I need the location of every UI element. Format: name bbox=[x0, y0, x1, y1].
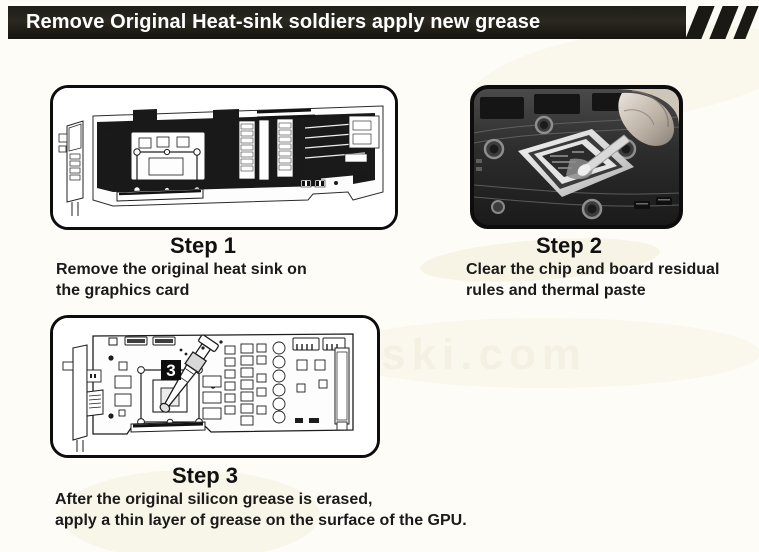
step-3-image-panel: 3 bbox=[50, 315, 380, 458]
step-3-line-2: apply a thin layer of grease on the surf… bbox=[55, 510, 467, 531]
title-decor-slash-icon bbox=[733, 6, 758, 39]
graphics-card-heatsink-illustration bbox=[53, 88, 398, 230]
step-1-description: Remove the original heat sink on the gra… bbox=[56, 259, 307, 301]
step-3-line-1: After the original silicon grease is era… bbox=[55, 489, 467, 510]
gpu-cleaning-photo bbox=[474, 89, 679, 225]
step-3-badge-number: 3 bbox=[166, 361, 175, 380]
step-1-line-1: Remove the original heat sink on bbox=[56, 259, 307, 280]
step-1-heading: Step 1 bbox=[170, 233, 236, 259]
bare-pcb-grease-illustration: 3 bbox=[53, 318, 377, 455]
step-3-heading: Step 3 bbox=[172, 463, 238, 489]
page-title-bar: Remove Original Heat-sink soldiers apply… bbox=[8, 6, 686, 39]
page-title: Remove Original Heat-sink soldiers apply… bbox=[8, 11, 540, 34]
step-2-line-2: rules and thermal paste bbox=[466, 280, 719, 301]
step-2-image-panel bbox=[470, 85, 683, 229]
poster-root: com www.bykski.com Remove Original Heat-… bbox=[0, 0, 759, 552]
step-2-line-1: Clear the chip and board residual bbox=[466, 259, 719, 280]
background-swoosh bbox=[330, 318, 759, 388]
step-2-heading: Step 2 bbox=[536, 233, 602, 259]
step-2-description: Clear the chip and board residual rules … bbox=[466, 259, 719, 301]
step-3-description: After the original silicon grease is era… bbox=[55, 489, 467, 531]
step-1-image-panel bbox=[50, 85, 398, 230]
step-1-line-2: the graphics card bbox=[56, 280, 307, 301]
